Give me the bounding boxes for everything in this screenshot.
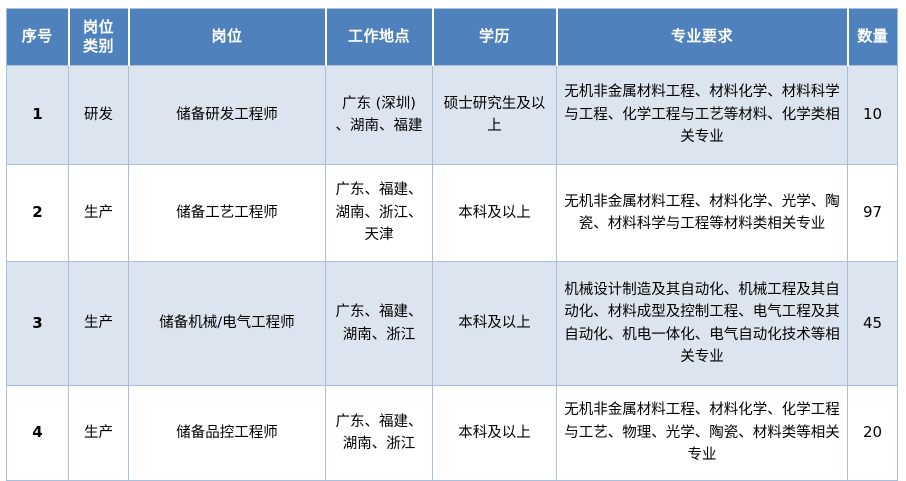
cell-seq: 2: [7, 165, 69, 262]
cell-location: 广东、福建、湖南、浙江: [326, 386, 433, 481]
cell-seq: 4: [7, 386, 69, 481]
column-header-major: 专业要求: [557, 9, 848, 66]
column-header-category-line1: 岗位: [73, 18, 125, 37]
cell-category: 研发: [69, 66, 129, 165]
cell-education: 硕士研究生及以上: [433, 66, 557, 165]
cell-quantity: 97: [848, 165, 898, 262]
table-row: 3 生产 储备机械/电气工程师 广东、福建、湖南、浙江 本科及以上 机械设计制造…: [7, 262, 898, 386]
cell-major: 机械设计制造及其自动化、机械工程及其自动化、材料成型及控制工程、电气工程及其自动…: [557, 262, 848, 386]
cell-category: 生产: [69, 262, 129, 386]
cell-post: 储备工艺工程师: [129, 165, 326, 262]
cell-post: 储备品控工程师: [129, 386, 326, 481]
table-row: 1 研发 储备研发工程师 广东 (深圳) 、湖南、福建 硕士研究生及以上 无机非…: [7, 66, 898, 165]
table-header: 序号 岗位 类别 岗位 工作地点 学历 专业要求 数量: [7, 9, 898, 66]
cell-major: 无机非金属材料工程、材料化学、光学、陶瓷、材料科学与工程等材料类相关专业: [557, 165, 848, 262]
cell-location: 广东、福建、湖南、浙江: [326, 262, 433, 386]
cell-seq: 3: [7, 262, 69, 386]
cell-post: 储备机械/电气工程师: [129, 262, 326, 386]
cell-education: 本科及以上: [433, 386, 557, 481]
column-header-category: 岗位 类别: [69, 9, 129, 66]
cell-post: 储备研发工程师: [129, 66, 326, 165]
cell-category: 生产: [69, 386, 129, 481]
table-row: 2 生产 储备工艺工程师 广东、福建、湖南、浙江、天津 本科及以上 无机非金属材…: [7, 165, 898, 262]
cell-major: 无机非金属材料工程、材料化学、化学工程与工艺、物理、光学、陶瓷、材料类等相关专业: [557, 386, 848, 481]
cell-location: 广东、福建、湖南、浙江、天津: [326, 165, 433, 262]
cell-seq: 1: [7, 66, 69, 165]
table-row: 4 生产 储备品控工程师 广东、福建、湖南、浙江 本科及以上 无机非金属材料工程…: [7, 386, 898, 481]
cell-quantity: 10: [848, 66, 898, 165]
cell-category: 生产: [69, 165, 129, 262]
column-header-category-line2: 类别: [73, 37, 125, 56]
cell-location: 广东 (深圳) 、湖南、福建: [326, 66, 433, 165]
header-row: 序号 岗位 类别 岗位 工作地点 学历 专业要求 数量: [7, 9, 898, 66]
cell-major: 无机非金属材料工程、材料化学、材料科学与工程、化学工程与工艺等材料、化学类相关专…: [557, 66, 848, 165]
column-header-education: 学历: [433, 9, 557, 66]
job-table-container: 序号 岗位 类别 岗位 工作地点 学历 专业要求 数量 1 研发 储备研发工程师…: [6, 8, 897, 481]
cell-education: 本科及以上: [433, 262, 557, 386]
column-header-seq: 序号: [7, 9, 69, 66]
column-header-location: 工作地点: [326, 9, 433, 66]
table-body: 1 研发 储备研发工程师 广东 (深圳) 、湖南、福建 硕士研究生及以上 无机非…: [7, 66, 898, 481]
column-header-post: 岗位: [129, 9, 326, 66]
cell-education: 本科及以上: [433, 165, 557, 262]
job-recruitment-table: 序号 岗位 类别 岗位 工作地点 学历 专业要求 数量 1 研发 储备研发工程师…: [6, 8, 898, 481]
column-header-quantity: 数量: [848, 9, 898, 66]
cell-quantity: 45: [848, 262, 898, 386]
cell-quantity: 20: [848, 386, 898, 481]
